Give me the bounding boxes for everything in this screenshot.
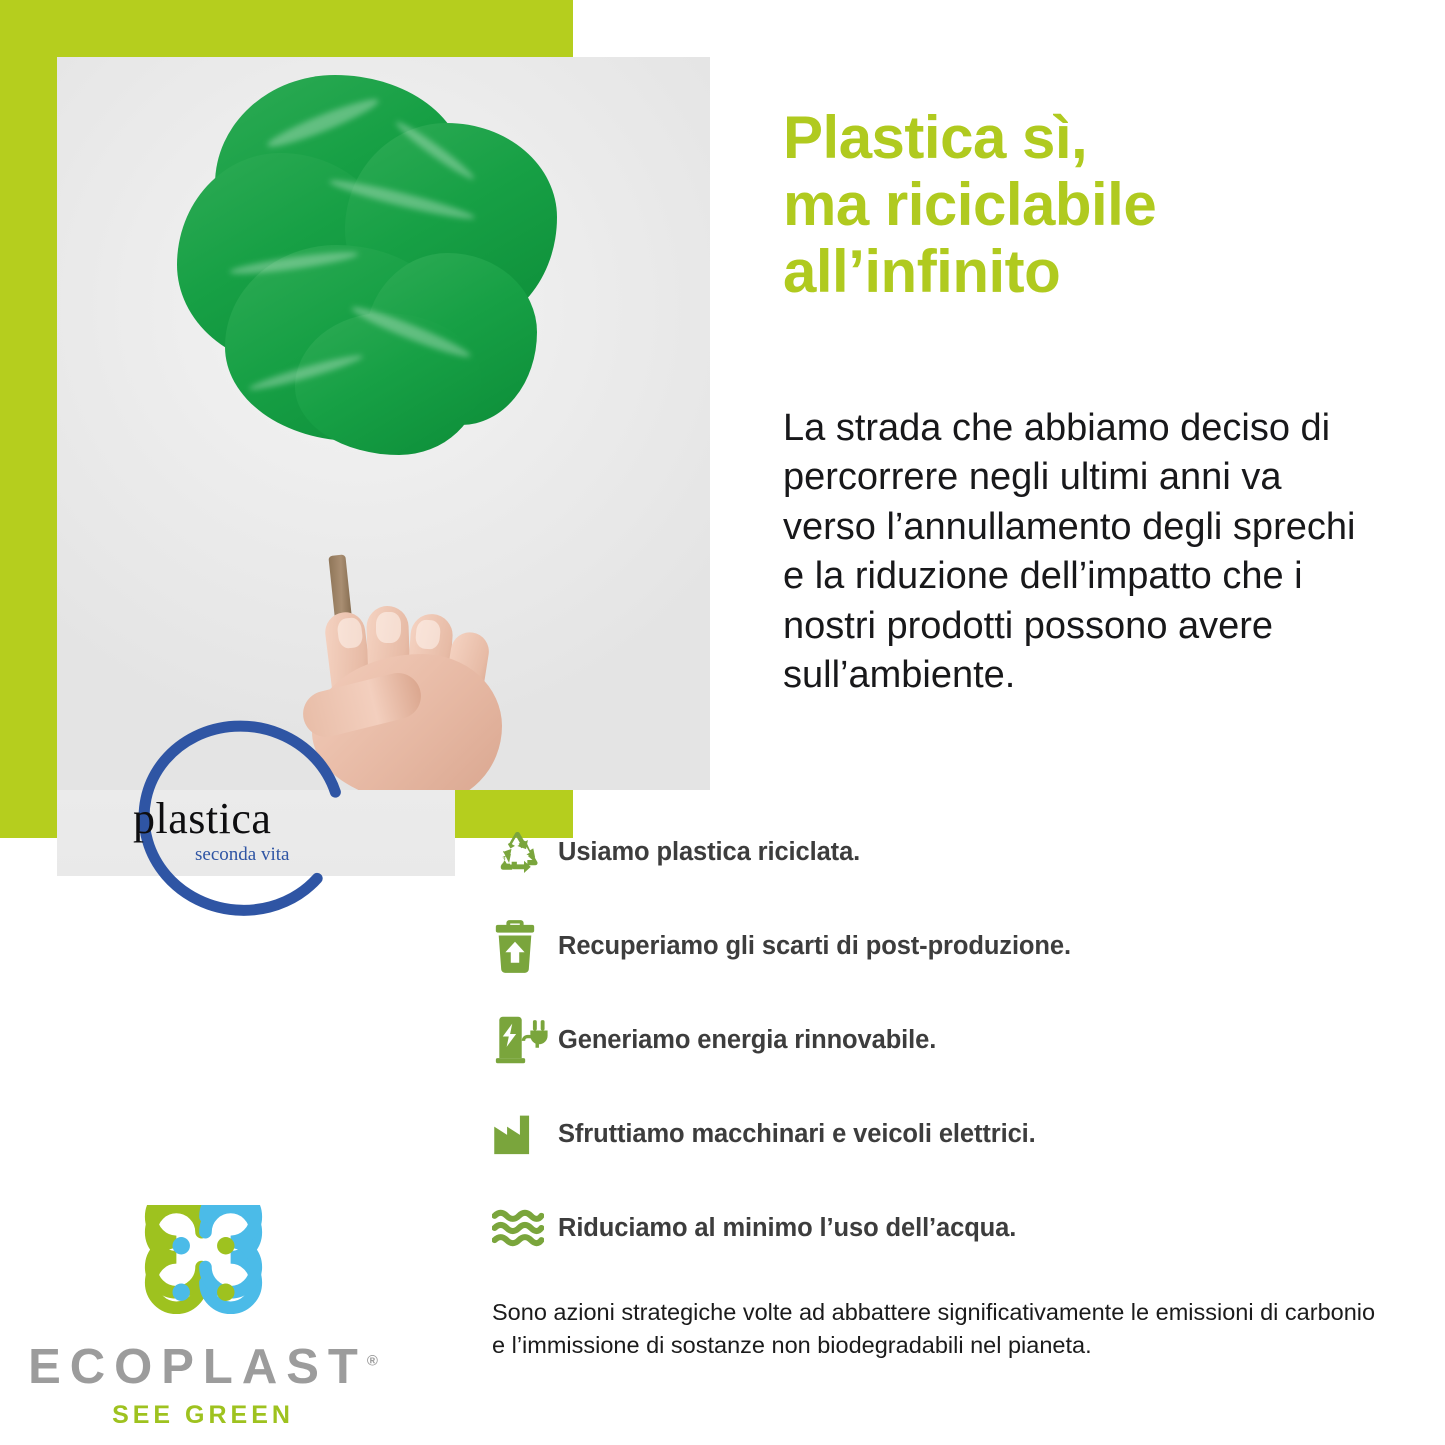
factory-icon: [492, 1103, 558, 1165]
registered-mark: ®: [367, 1353, 378, 1370]
poster-canvas: plastica seconda vita Plastica sì, ma ri…: [0, 0, 1445, 1445]
list-item-label: Recuperiamo gli scarti di post-produzion…: [558, 932, 1071, 961]
headline-line-3: all’infinito: [783, 238, 1383, 305]
list-item-label: Sfruttiamo macchinari e veicoli elettric…: [558, 1120, 1036, 1149]
plastica-seconda-vita-logo: plastica seconda vita: [127, 717, 352, 932]
list-item-label: Generiamo energia rinnovabile.: [558, 1026, 936, 1055]
ecoplast-name: ECOPLAST: [28, 1340, 367, 1394]
list-item: Sfruttiamo macchinari e veicoli elettric…: [492, 1087, 1322, 1181]
psv-wordmark: plastica: [133, 797, 348, 841]
ecoplast-tagline: SEE GREEN: [18, 1401, 388, 1430]
list-item: Usiamo plastica riciclata.: [492, 805, 1322, 899]
list-item: Generiamo energia rinnovabile.: [492, 993, 1322, 1087]
ecoplast-wordmark: ECOPLAST®: [18, 1339, 388, 1395]
benefits-list: Usiamo plastica riciclata. Recuperiamo g…: [492, 805, 1322, 1275]
hero-photo-upper: [57, 57, 710, 790]
ev-charger-icon: [492, 1009, 558, 1071]
water-waves-icon: [492, 1197, 558, 1259]
list-item-label: Riduciamo al minimo l’uso dell’acqua.: [558, 1214, 1016, 1243]
recycle-icon: [492, 821, 558, 883]
plastic-tree-canopy: [177, 75, 557, 450]
list-item: Recuperiamo gli scarti di post-produzion…: [492, 899, 1322, 993]
footnote-text: Sono azioni strategiche volte ad abbatte…: [492, 1296, 1382, 1362]
page-title: Plastica sì, ma riciclabile all’infinito: [783, 104, 1383, 306]
ecoplast-logo: ECOPLAST® SEE GREEN: [18, 1205, 388, 1430]
list-item-label: Usiamo plastica riciclata.: [558, 838, 860, 867]
trash-upload-icon: [492, 915, 558, 977]
headline-line-2: ma riciclabile: [783, 171, 1383, 238]
psv-tagline: seconda vita: [195, 844, 348, 866]
headline-line-1: Plastica sì,: [783, 104, 1383, 171]
list-item: Riduciamo al minimo l’uso dell’acqua.: [492, 1181, 1322, 1275]
ecoplast-butterfly-icon: [126, 1205, 281, 1333]
hero-photo: plastica seconda vita: [57, 57, 710, 876]
lead-paragraph: La strada che abbiamo deciso di percorre…: [783, 404, 1383, 700]
